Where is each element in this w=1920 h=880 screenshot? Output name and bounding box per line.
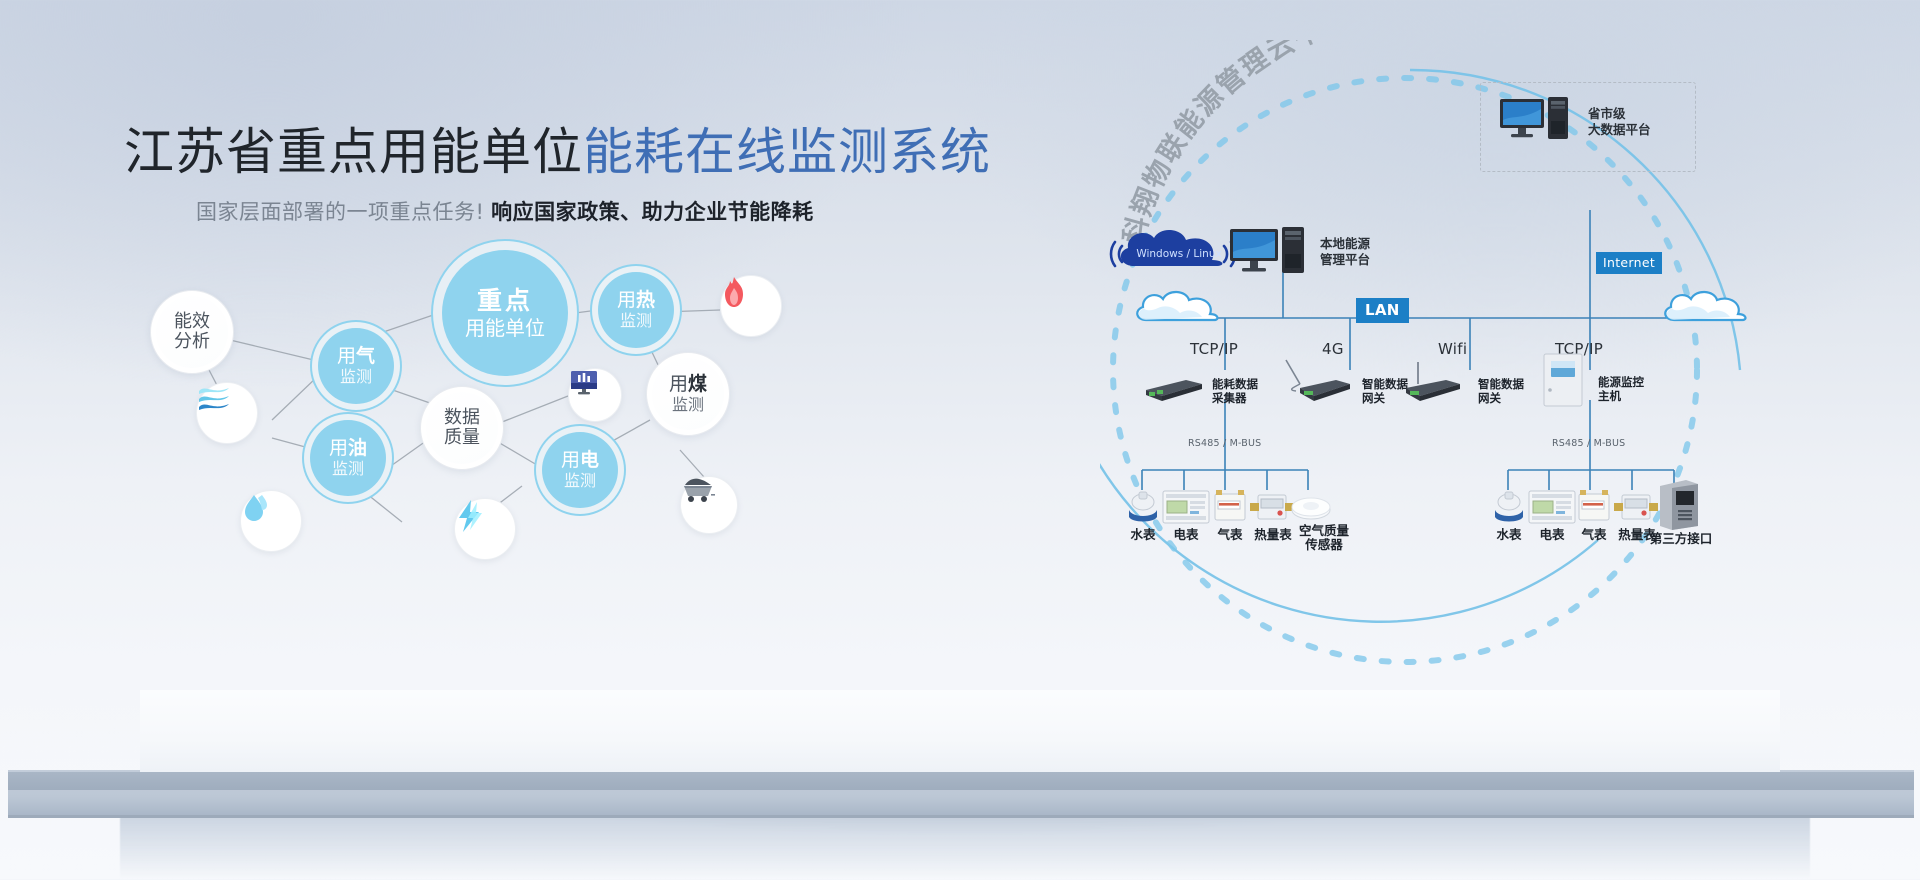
os-cloud-label: Windows / Linux [1134,248,1224,260]
gateway-4g-device-icon [1278,358,1356,406]
air-quality-sensor-icon [1290,494,1332,524]
collector-device-label: 能耗数据 采集器 [1212,378,1258,406]
gateway-wifi-device-label: 智能数据 网关 [1478,378,1524,406]
node-power-monitoring-line2: 监测 [564,472,596,490]
collector-label-line2: 采集器 [1212,392,1258,406]
node-heat-monitoring-line2: 监测 [620,312,652,330]
lightning-bolt-icon [455,499,485,533]
node-power-monitoring[interactable]: 用电 监测 [542,432,618,508]
collector-label-line1: 能耗数据 [1212,378,1258,392]
page-title-blue: 能耗在线监测系统 [583,123,991,181]
node-heat-monitoring[interactable]: 用热 监测 [598,272,674,348]
node-coal-monitoring[interactable]: 用煤 监测 [646,352,730,436]
node-oil-monitoring-line1: 用油 [329,438,367,459]
page-title-dark: 江苏省重点用能单位 [124,123,583,181]
right-network-cloud-icon [1660,286,1768,328]
gas-meter-icon-2 [1574,488,1614,524]
monitor-host-device-icon [1540,352,1588,408]
node-efficiency-analysis-line2: 分析 [174,332,210,352]
collector-device-icon [1142,374,1206,404]
protocol-label-4g: 4G [1322,340,1344,358]
local-platform-pc-icon [1228,226,1314,278]
flame-icon-node[interactable] [720,275,782,337]
flame-icon [721,276,747,308]
bigdata-pc-icon [1498,96,1578,144]
gateway-wifi-device-icon [1400,358,1472,406]
node-gas-monitoring[interactable]: 用气 监测 [318,328,394,404]
node-coal-monitoring-line1: 用煤 [669,374,707,395]
monitor-host-device-label: 能源监控 主机 [1598,376,1644,404]
node-key-energy-unit-line1: 重点 [477,287,533,315]
heat-meter-icon-2 [1614,492,1658,524]
node-heat-monitoring-line1: 用热 [617,290,655,311]
cloud-architecture-diagram: 科翔物联能源管理云平台 [1100,40,1920,680]
bus-label-right: RS485 / M-BUS [1552,438,1625,449]
air-quality-label-line2: 传感器 [1286,538,1362,552]
monitor-chart-icon-node[interactable] [568,368,622,422]
water-meter-icon-2 [1490,490,1528,524]
energy-node-graph: 能效 分析 用气 监测 重点 用能单位 用热 监测 [150,290,970,650]
third-party-interface-label: 第三方接口 [1638,532,1724,546]
local-platform-label: 本地能源 管理平台 [1320,236,1370,267]
lan-badge: LAN [1356,298,1409,323]
page-title: 江苏省重点用能单位能耗在线监测系统 [124,112,991,184]
node-oil-monitoring-line2: 监测 [332,460,364,478]
monitor-host-label-line2: 主机 [1598,390,1644,404]
left-network-cloud-icon [1132,286,1240,328]
local-platform-label-line1: 本地能源 [1320,236,1370,252]
node-data-quality-line2: 质量 [444,428,480,448]
node-oil-monitoring[interactable]: 用油 监测 [310,420,386,496]
bigdata-label-line2: 大数据平台 [1588,122,1651,138]
internet-badge: Internet [1596,252,1662,274]
gateway-wifi-label-line1: 智能数据 [1478,378,1524,392]
node-coal-monitoring-line2: 监测 [672,396,704,414]
local-platform-label-line2: 管理平台 [1320,252,1370,268]
lightning-bolt-icon-node[interactable] [454,498,516,560]
podium-front-edge [8,772,1914,790]
monitor-host-label-line1: 能源监控 [1598,376,1644,390]
page-subtitle-gray: 国家层面部署的一项重点任务! [196,200,484,224]
protocol-label-tcpip-1: TCP/IP [1190,340,1238,358]
third-party-interface-icon [1656,478,1702,530]
monitor-chart-icon [569,369,599,396]
water-drop-icon [241,491,271,523]
heat-meter-icon [1250,492,1294,524]
air-quality-label-line1: 空气质量 [1286,524,1362,538]
bigdata-label-line1: 省市级 [1588,106,1651,122]
wave-gas-icon [197,383,231,413]
node-key-energy-unit[interactable]: 重点 用能单位 [442,250,568,376]
gateway-wifi-label-line2: 网关 [1478,392,1524,406]
hero-banner: 江苏省重点用能单位能耗在线监测系统 国家层面部署的一项重点任务! 响应国家政策、… [0,0,1920,880]
node-efficiency-analysis[interactable]: 能效 分析 [150,290,234,374]
air-quality-sensor-label: 空气质量 传感器 [1286,524,1362,553]
bus-label-left: RS485 / M-BUS [1188,438,1261,449]
coal-cart-icon-node[interactable] [680,476,738,534]
protocol-label-wifi: Wifi [1438,340,1467,358]
node-gas-monitoring-line2: 监测 [340,368,372,386]
bigdata-label: 省市级 大数据平台 [1588,106,1651,137]
water-meter-icon [1124,490,1162,524]
node-power-monitoring-line1: 用电 [561,450,599,471]
node-efficiency-analysis-line1: 能效 [174,312,210,332]
podium-top [140,690,1780,772]
page-subtitle-dark: 响应国家政策、助力企业节能降耗 [491,200,814,224]
electric-meter-icon-2 [1528,490,1576,524]
page-subtitle: 国家层面部署的一项重点任务! 响应国家政策、助力企业节能降耗 [196,196,814,226]
gas-meter-icon [1210,488,1250,524]
electric-meter-icon [1162,490,1210,524]
node-key-energy-unit-line2: 用能单位 [465,317,545,339]
wave-gas-icon-node[interactable] [196,382,258,444]
node-data-quality[interactable]: 数据 质量 [420,386,504,470]
node-data-quality-line1: 数据 [444,408,480,428]
water-drop-icon-node[interactable] [240,490,302,552]
coal-cart-icon [681,477,715,503]
node-gas-monitoring-line1: 用气 [337,346,375,367]
